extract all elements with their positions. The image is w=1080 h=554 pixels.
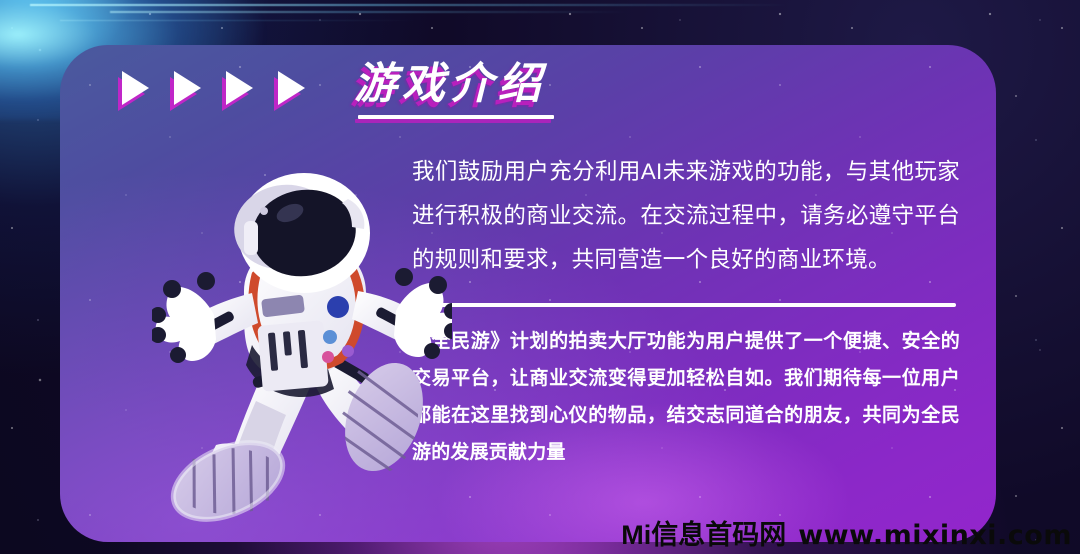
title-block: 游戏介绍 xyxy=(354,63,554,119)
play-triangle-icon xyxy=(122,71,162,111)
text-column: 我们鼓励用户充分利用AI未来游戏的功能，与其他玩家进行积极的商业交流。在交流过程… xyxy=(412,150,960,471)
light-streak xyxy=(60,20,420,21)
watermark-url: www.mixinxi.com xyxy=(798,520,1072,551)
content-card: 游戏介绍 我们鼓励用户充分利用AI未来游戏的功能，与其他玩家进行积极的商业交流。… xyxy=(60,45,996,542)
astronaut-illustration xyxy=(152,165,452,542)
play-triangle-icon xyxy=(226,71,266,111)
watermark: Mi信息首码网 www.mixinxi.com xyxy=(621,513,1072,552)
watermark-brand: Mi信息首码网 xyxy=(621,513,786,552)
play-triangle-icon xyxy=(278,71,318,111)
paragraph-primary: 我们鼓励用户充分利用AI未来游戏的功能，与其他玩家进行积极的商业交流。在交流过程… xyxy=(412,150,960,282)
astronaut-arm-right xyxy=(352,268,452,359)
light-streak xyxy=(30,4,790,6)
astronaut-arm-left xyxy=(152,272,258,363)
section-heading: 游戏介绍 xyxy=(122,63,554,119)
title-underline xyxy=(358,115,554,119)
paragraph-secondary: 《全民游》计划的拍卖大厅功能为用户提供了一个便捷、安全的交易平台，让商业交流变得… xyxy=(412,323,960,471)
light-streak xyxy=(110,11,630,13)
section-divider xyxy=(412,303,956,307)
play-triangle-icon xyxy=(174,71,214,111)
poster-canvas: 游戏介绍 我们鼓励用户充分利用AI未来游戏的功能，与其他玩家进行积极的商业交流。… xyxy=(0,0,1080,554)
page-title: 游戏介绍 xyxy=(354,63,554,106)
